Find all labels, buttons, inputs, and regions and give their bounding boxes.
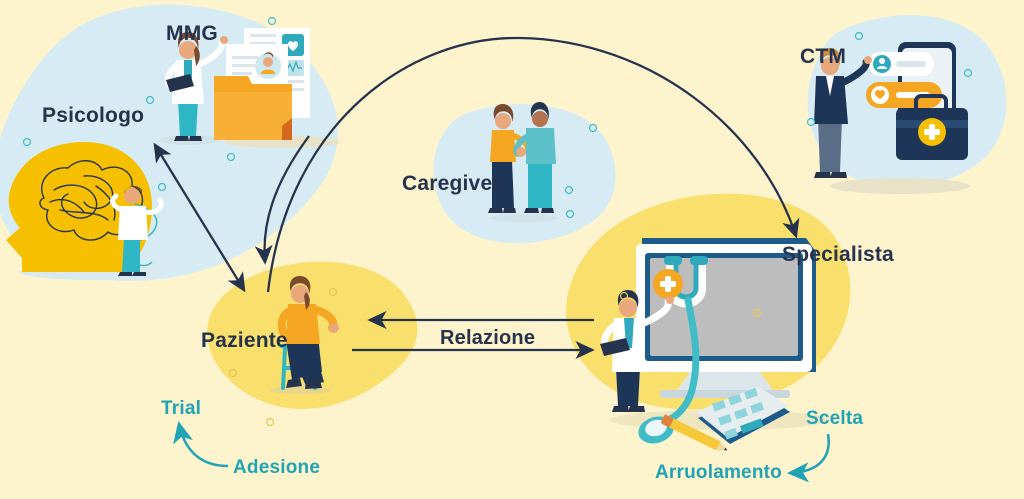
node-label-psicologo: Psicologo [42,104,144,128]
node-label-paziente: Paziente [201,329,288,353]
connector-psicologo-paziente [155,145,244,290]
edge-label-arruolamento: Arruolamento [655,462,782,484]
node-label-specialista: Specialista [782,243,894,267]
connector-scelta-to-arruolamento [790,434,829,473]
edge-label-scelta: Scelta [806,408,863,430]
node-label-caregiver: Caregiver [402,172,501,196]
node-label-ctm: CTM [800,45,846,69]
connector-mmg-to-paziente [265,136,309,262]
connector-adesione-to-trial [179,424,228,466]
connector-mmg-to-specialista-arc [268,38,796,292]
edge-label-trial: Trial [161,398,201,420]
edge-label-adesione: Adesione [233,457,320,479]
edge-label-relazione: Relazione [440,327,535,350]
diagram-canvas: Psicologo MMG Caregiver CTM Specialista … [0,0,1024,499]
node-label-mmg: MMG [166,22,218,46]
